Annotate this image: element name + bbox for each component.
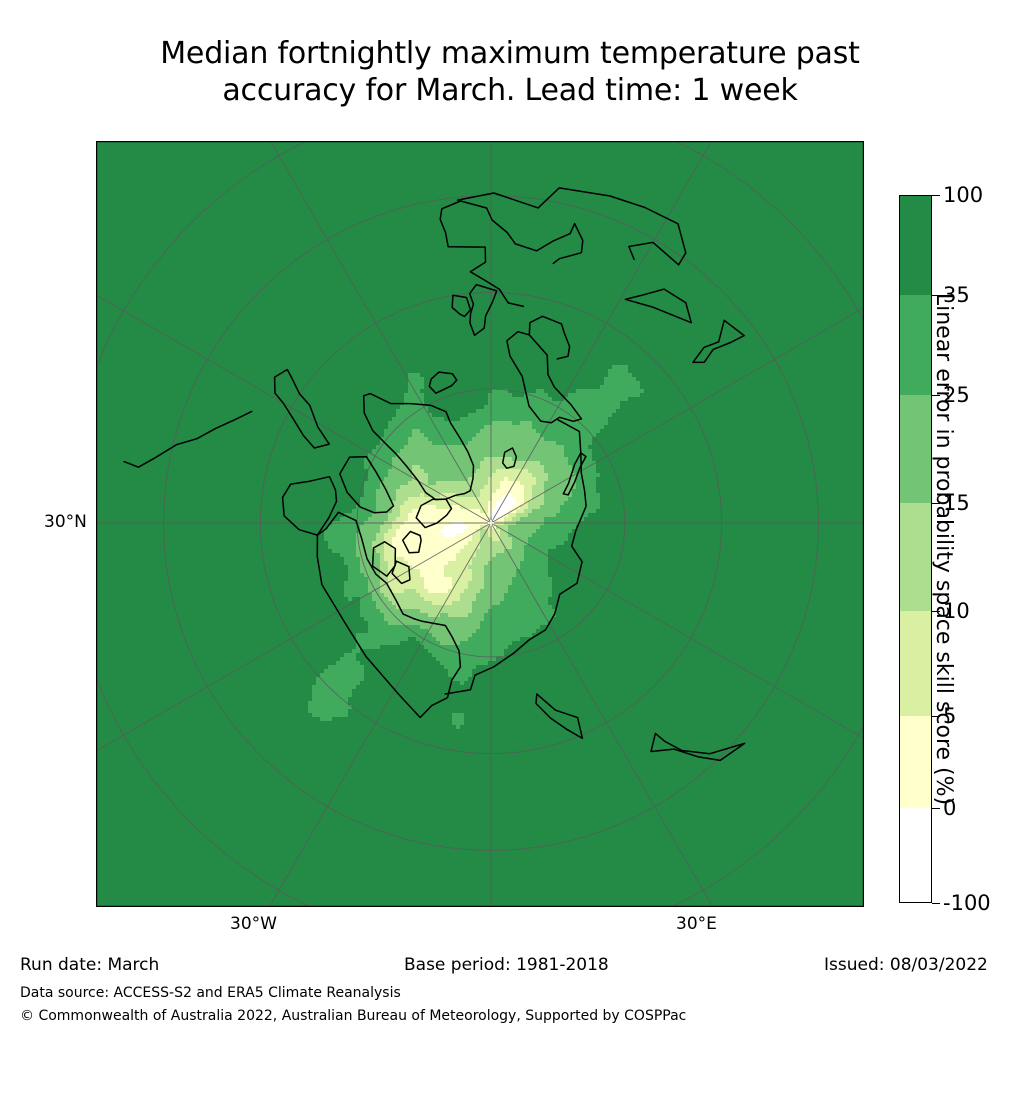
lon-tick-30W: 30°W xyxy=(230,914,277,934)
run-date-text: Run date: March xyxy=(20,955,159,975)
copyright-text: © Commonwealth of Australia 2022, Austra… xyxy=(20,1008,686,1024)
issued-date-text: Issued: 08/03/2022 xyxy=(824,955,988,975)
lat-tick-30N: 30°N xyxy=(44,512,87,532)
polar-stereographic-map xyxy=(96,141,864,907)
base-period-text: Base period: 1981-2018 xyxy=(404,955,609,975)
colorbar-axis-label: Linear error in probability space skill … xyxy=(923,196,963,902)
skill-score-field xyxy=(96,141,864,907)
title-line-1: Median fortnightly maximum temperature p… xyxy=(0,36,1020,73)
lon-tick-30E: 30°E xyxy=(676,914,717,934)
footer: Run date: March Base period: 1981-2018 I… xyxy=(0,955,1020,1065)
title-line-2: accuracy for March. Lead time: 1 week xyxy=(0,73,1020,110)
chart-title: Median fortnightly maximum temperature p… xyxy=(0,36,1020,109)
colorbar-tick-7 xyxy=(932,903,940,904)
data-source-text: Data source: ACCESS-S2 and ERA5 Climate … xyxy=(20,985,401,1001)
map-plot-area xyxy=(96,141,864,907)
